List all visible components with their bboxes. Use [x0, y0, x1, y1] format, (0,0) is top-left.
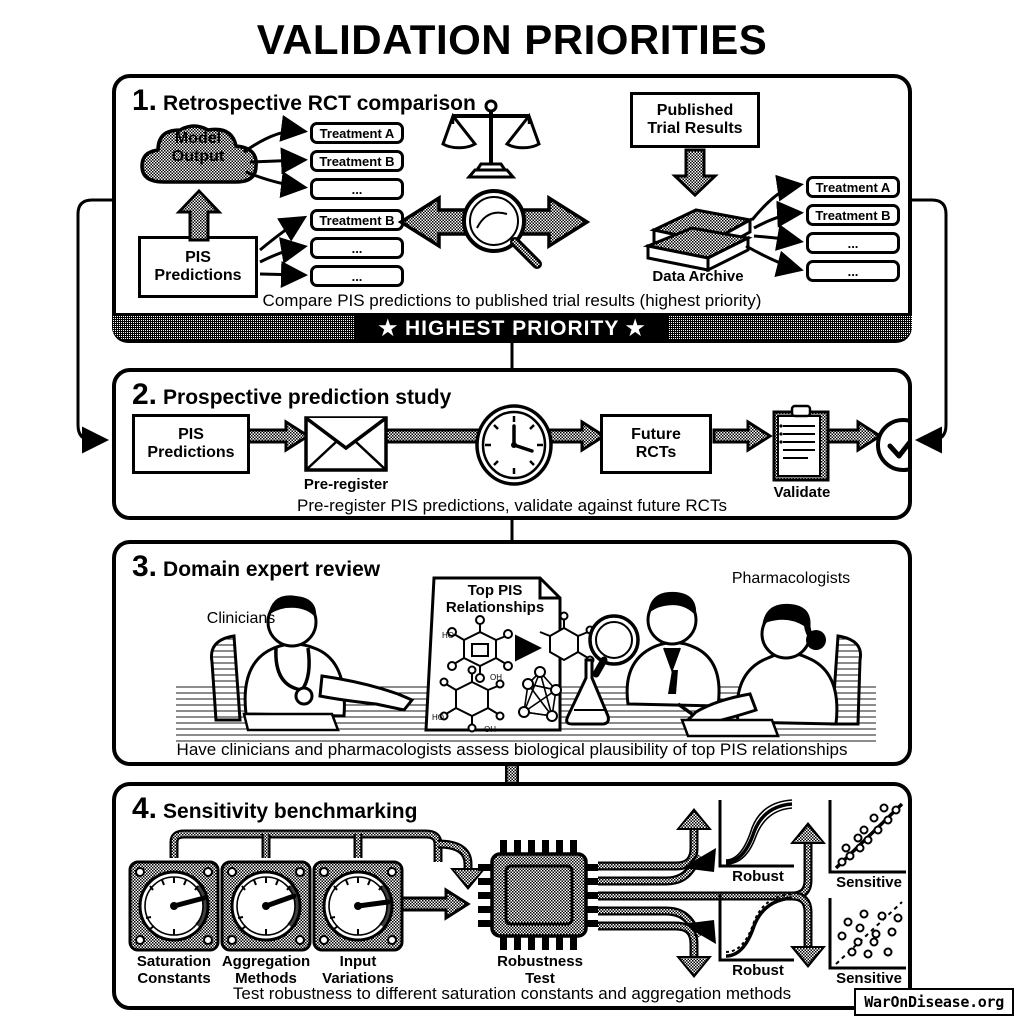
processor-label: Robustness Test — [482, 954, 598, 988]
document-title: Top PIS Relationships — [434, 582, 556, 617]
svg-text:HO: HO — [442, 631, 454, 640]
clock-icon — [474, 404, 554, 486]
check-circle-icon — [874, 416, 912, 474]
clipboard-icon — [770, 404, 832, 482]
outcome-label-robust-bottom: Robust — [712, 962, 804, 979]
panel-1-caption: Compare PIS predictions to published tri… — [116, 291, 908, 311]
svg-text:HO: HO — [432, 713, 444, 722]
sensitive-chart-bottom — [830, 898, 906, 968]
panel-4-caption: Test robustness to different saturation … — [116, 984, 908, 1004]
future-rcts-box[interactable]: Future RCTs — [600, 414, 712, 474]
clinicians-label: Clinicians — [176, 610, 306, 628]
panel-3-caption: Have clinicians and pharmacologists asse… — [116, 740, 908, 760]
processor-chip-icon — [478, 840, 598, 950]
watermark: WarOnDisease.org — [854, 988, 1014, 1016]
panel-retrospective-rct-comparison[interactable]: 1. Retrospective RCT comparison Model Ou… — [112, 74, 912, 338]
gauge-label-aggregation: Aggregation Methods — [216, 954, 316, 988]
panel-domain-expert-review[interactable]: 3. Domain expert review — [112, 540, 912, 766]
envelope-icon — [304, 416, 388, 472]
page-title: VALIDATION PRIORITIES — [0, 16, 1024, 64]
highest-priority-badge: ★ HIGHEST PRIORITY ★ — [355, 313, 669, 343]
sensitive-chart-top — [830, 800, 906, 872]
gauge-label-saturation: Saturation Constants — [124, 954, 224, 988]
loop-left-path — [78, 200, 112, 440]
svg-text:OH: OH — [484, 725, 496, 734]
gauge-label-input: Input Variations — [308, 954, 408, 988]
pre-register-label: Pre-register — [286, 476, 406, 493]
robust-chart-top — [720, 800, 794, 866]
panel-prospective-prediction-study[interactable]: 2. Prospective prediction study PIS Pred… — [112, 368, 912, 520]
loop-right-path — [912, 200, 946, 440]
panel-sensitivity-benchmarking[interactable]: 4. Sensitivity benchmarking — [112, 782, 912, 1010]
svg-text:OH: OH — [490, 673, 502, 682]
panel-2-caption: Pre-register PIS predictions, validate a… — [116, 496, 908, 516]
pis-predictions-box-panel2[interactable]: PIS Predictions — [132, 414, 250, 474]
pharmacologists-label: Pharmacologists — [676, 570, 906, 588]
robust-chart-bottom — [720, 894, 794, 960]
outcome-label-sensitive-top: Sensitive — [820, 874, 912, 891]
outcome-label-robust-top: Robust — [712, 868, 804, 885]
